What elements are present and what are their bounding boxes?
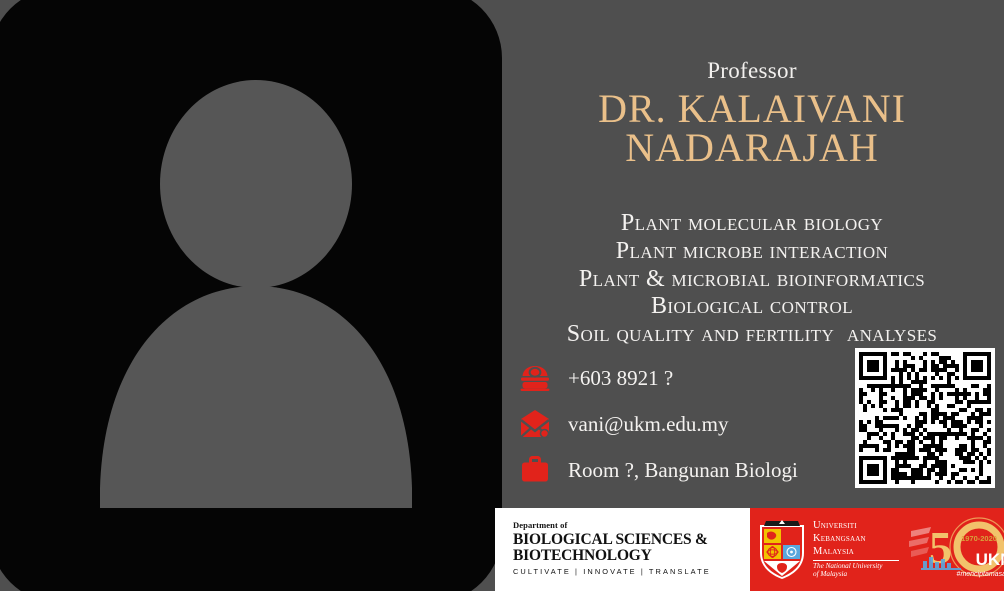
footer: Department of BIOLOGICAL SCIENCES & BIOT… — [0, 508, 1004, 591]
university-line-1: Universiti — [813, 520, 899, 533]
department-name-line-1: BIOLOGICAL SCIENCES & — [513, 531, 708, 548]
expertise-item: Plant Microbe Interaction — [500, 238, 1004, 266]
university-sub-2: of Malaysia — [813, 570, 899, 579]
university-banner: Universiti Kebangsaan Malaysia The Natio… — [750, 508, 1004, 591]
anniversary-logo-icon: 5 1970-2020 UKM #menciptamasadepan — [905, 517, 1004, 583]
expertise-item: Biological Control — [500, 293, 1004, 321]
university-sub-1: The National University — [813, 562, 899, 571]
profile-photo-panel — [0, 0, 502, 591]
anniversary-brand: UKM — [976, 550, 1004, 569]
page-title: Dr. Kalaivani Nadarajah — [500, 90, 1004, 168]
department-logo: Department of BIOLOGICAL SCIENCES & BIOT… — [495, 508, 750, 591]
office-location: Room ?, Bangunan Biologi — [568, 458, 798, 483]
department-eyebrow: Department of — [513, 520, 750, 530]
ukm-crest-icon — [758, 519, 806, 581]
expertise-list: Plant Molecular Biology Plant Microbe In… — [500, 210, 1004, 349]
expertise-item: Plant & Microbial Bioinformatics — [500, 266, 1004, 294]
expertise-item: Soil Quality and Fertility Analyses — [500, 321, 1004, 349]
profile-card: Professor Dr. Kalaivani Nadarajah Plant … — [0, 0, 1004, 591]
qr-code-canvas — [859, 352, 991, 484]
telephone-icon — [514, 359, 556, 397]
name-line-2: Nadarajah — [625, 125, 878, 170]
anniversary-years: 1970-2020 — [961, 534, 997, 543]
university-line-3: Malaysia — [813, 546, 899, 559]
expertise-item: Plant Molecular Biology — [500, 210, 1004, 238]
anniversary-hashtag: #menciptamasadepan — [957, 571, 1004, 578]
university-line-2: Kebangsaan — [813, 533, 899, 546]
contact-list: +603 8921 ? vani@ukm.edu.my — [514, 355, 854, 493]
contact-row-email[interactable]: vani@ukm.edu.my — [514, 401, 854, 447]
envelope-icon — [514, 405, 556, 443]
title-block: Professor Dr. Kalaivani Nadarajah — [500, 0, 1004, 168]
wordmark-divider — [813, 560, 899, 561]
briefcase-icon — [514, 451, 556, 489]
contact-row-office[interactable]: Room ?, Bangunan Biologi — [514, 447, 854, 493]
person-silhouette-icon — [0, 0, 502, 591]
university-wordmark: Universiti Kebangsaan Malaysia The Natio… — [813, 520, 899, 579]
phone-number: +603 8921 ? — [568, 366, 673, 391]
email-address: vani@ukm.edu.my — [568, 412, 728, 437]
department-name: BIOLOGICAL SCIENCES & BIOTECHNOLOGY — [513, 532, 750, 563]
rank-label: Professor — [500, 58, 1004, 83]
qr-code-icon[interactable] — [855, 348, 995, 488]
department-name-line-2: BIOTECHNOLOGY — [513, 547, 652, 564]
contact-row-phone[interactable]: +603 8921 ? — [514, 355, 854, 401]
department-tagline: CULTIVATE | INNOVATE | TRANSLATE — [513, 567, 750, 576]
